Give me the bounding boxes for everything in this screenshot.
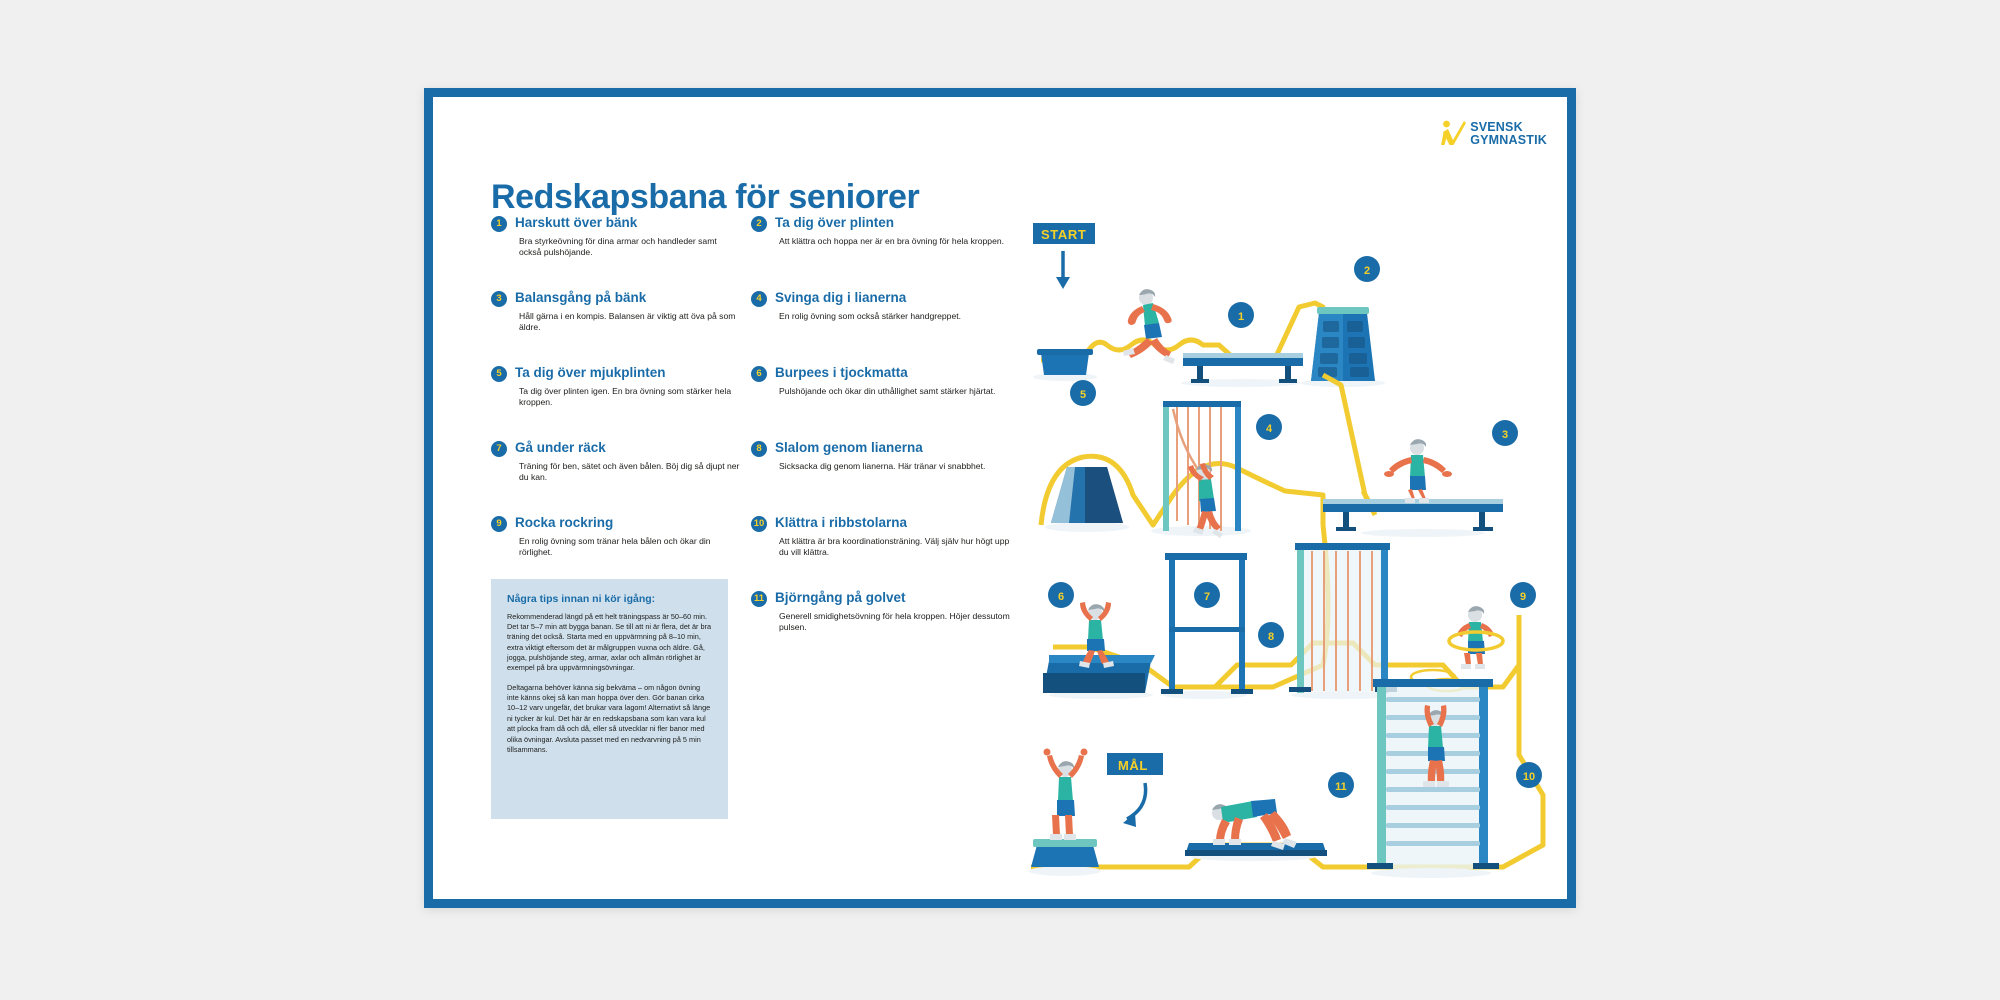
logo-wordmark: SVENSK GYMNASTIK xyxy=(1470,121,1547,148)
exercise-title: Ta dig över plinten xyxy=(775,215,1011,231)
exercise-description: Sicksacka dig genom lianerna. Här tränar… xyxy=(779,461,1011,473)
equipment-rope-slalom xyxy=(1289,543,1397,693)
svg-text:5: 5 xyxy=(1080,389,1086,401)
marker-1: 1 xyxy=(1228,302,1254,328)
svg-text:1: 1 xyxy=(1238,311,1244,323)
exercise-title: Svinga dig i lianerna xyxy=(775,290,1011,306)
svensk-gymnastik-logo: SVENSK GYMNASTIK xyxy=(1440,119,1547,149)
svg-text:11: 11 xyxy=(1335,781,1347,793)
equipment-bench xyxy=(1183,353,1303,383)
exercise-number-badge: 10 xyxy=(751,516,767,532)
tips-paragraph-1: Rekommenderad längd på ett helt tränings… xyxy=(507,612,712,674)
exercise-title: Slalom genom lianerna xyxy=(775,440,1011,456)
exercise-number-badge: 2 xyxy=(751,216,767,232)
exercise-number-badge: 1 xyxy=(491,216,507,232)
figure-hula-hoop xyxy=(1449,606,1503,669)
start-box-top xyxy=(1037,349,1093,355)
exercise-description: Att klättra och hoppa ner är en bra övni… xyxy=(779,236,1011,248)
exercise-item-3: 3 Balansgång på bänk Håll gärna i en kom… xyxy=(491,290,741,365)
shadow xyxy=(1371,868,1491,878)
exercise-item-1: 1 Harskutt över bänk Bra styrkeövning fö… xyxy=(491,215,741,290)
arrow-curve-down-left-icon xyxy=(1123,783,1146,827)
marker-2: 2 xyxy=(1354,256,1380,282)
exercise-title: Rocka rockring xyxy=(515,515,741,531)
exercise-title: Gå under räck xyxy=(515,440,741,456)
exercise-item-11: 11 Björngång på golvet Generell smidighe… xyxy=(751,590,1011,665)
tips-box: Några tips innan ni kör igång: Rekommend… xyxy=(491,579,728,819)
exercise-title: Harskutt över bänk xyxy=(515,215,741,231)
exercise-item-2: 2 Ta dig över plinten Att klättra och ho… xyxy=(751,215,1011,290)
exercise-item-8: 8 Slalom genom lianerna Sicksacka dig ge… xyxy=(751,440,1011,515)
marker-7: 7 xyxy=(1194,582,1220,608)
equipment-balance-bench xyxy=(1323,499,1503,531)
svg-text:10: 10 xyxy=(1523,771,1535,783)
exercise-description: En rolig övning som tränar hela bålen oc… xyxy=(519,536,741,560)
goal-label: MÅL xyxy=(1107,753,1163,775)
exercise-title: Burpees i tjockmatta xyxy=(775,365,1011,381)
equipment-floor-mat xyxy=(1185,843,1327,856)
shadow xyxy=(1361,529,1485,537)
marker-10: 10 xyxy=(1516,762,1542,788)
exercise-number-badge: 7 xyxy=(491,441,507,457)
poster-card: SVENSK GYMNASTIK Redskapsbana för senior… xyxy=(424,88,1576,908)
svg-text:4: 4 xyxy=(1266,423,1273,435)
equipment-bar-rack xyxy=(1161,553,1253,694)
marker-9: 9 xyxy=(1510,582,1536,608)
exercise-title: Klättra i ribbstolarna xyxy=(775,515,1011,531)
exercise-item-5: 5 Ta dig över mjukplinten Ta dig över pl… xyxy=(491,365,741,440)
equipment-plinth xyxy=(1311,307,1375,381)
gymnast-figure-icon xyxy=(1440,119,1466,149)
poster-content: SVENSK GYMNASTIK Redskapsbana för senior… xyxy=(433,97,1567,899)
marker-11: 11 xyxy=(1328,772,1354,798)
marker-8: 8 xyxy=(1258,622,1284,648)
page-title: Redskapsbana för seniorer xyxy=(491,178,919,217)
exercise-description: Träning för ben, sätet och även bålen. B… xyxy=(519,461,741,485)
tips-paragraph-2: Deltagarna behöver känna sig bekväma – o… xyxy=(507,683,712,756)
svg-text:7: 7 xyxy=(1204,591,1210,603)
shadow xyxy=(1045,522,1129,532)
exercise-title: Björngång på golvet xyxy=(775,590,1011,606)
svg-text:6: 6 xyxy=(1058,591,1064,603)
marker-4: 4 xyxy=(1256,414,1282,440)
figure-bear-walk xyxy=(1212,799,1297,850)
exercise-number-badge: 11 xyxy=(751,591,767,607)
exercise-description: Pulshöjande och ökar din uthållighet sam… xyxy=(779,386,1011,398)
goal-podium xyxy=(1031,839,1099,867)
exercise-number-badge: 8 xyxy=(751,441,767,457)
goal-label-text: MÅL xyxy=(1118,758,1148,773)
figure-balance xyxy=(1384,439,1452,503)
exercise-title: Balansgång på bänk xyxy=(515,290,741,306)
page-background: SVENSK GYMNASTIK Redskapsbana för senior… xyxy=(0,0,2000,1000)
exercise-title: Ta dig över mjukplinten xyxy=(515,365,741,381)
exercise-number-badge: 4 xyxy=(751,291,767,307)
svg-text:9: 9 xyxy=(1520,591,1526,603)
logo-line-1: SVENSK xyxy=(1470,121,1547,135)
course-illustration: START xyxy=(1023,195,1563,885)
tips-heading: Några tips innan ni kör igång: xyxy=(507,593,712,606)
start-label: START xyxy=(1033,223,1095,244)
svg-text:2: 2 xyxy=(1364,265,1370,277)
exercise-number-badge: 9 xyxy=(491,516,507,532)
exercise-item-6: 6 Burpees i tjockmatta Pulshöjande och ö… xyxy=(751,365,1011,440)
exercise-number-badge: 6 xyxy=(751,366,767,382)
marker-6: 6 xyxy=(1048,582,1074,608)
exercise-item-10: 10 Klättra i ribbstolarna Att klättra är… xyxy=(751,515,1011,590)
figure-celebrating xyxy=(1044,749,1088,841)
arrow-down-icon xyxy=(1056,251,1070,289)
exercise-number-badge: 5 xyxy=(491,366,507,382)
equipment-thick-mat xyxy=(1043,655,1155,693)
figure-runner xyxy=(1123,289,1175,364)
exercise-description: Att klättra är bra koordinationsträning.… xyxy=(779,536,1011,560)
exercise-description: Håll gärna i en kompis. Balansen är vikt… xyxy=(519,311,741,335)
shadow xyxy=(1029,866,1101,876)
exercise-description: Bra styrkeövning för dina armar och hand… xyxy=(519,236,741,260)
marker-5: 5 xyxy=(1070,380,1096,406)
exercise-description: En rolig övning som också stärker handgr… xyxy=(779,311,1011,323)
exercise-item-4: 4 Svinga dig i lianerna En rolig övning … xyxy=(751,290,1011,365)
start-label-text: START xyxy=(1041,227,1086,242)
exercise-number-badge: 3 xyxy=(491,291,507,307)
svg-text:8: 8 xyxy=(1268,631,1274,643)
start-box xyxy=(1041,353,1089,375)
exercise-item-7: 7 Gå under räck Träning för ben, sätet o… xyxy=(491,440,741,515)
marker-3: 3 xyxy=(1492,420,1518,446)
svg-text:3: 3 xyxy=(1502,429,1508,441)
logo-line-2: GYMNASTIK xyxy=(1470,134,1547,148)
course-diagram: START xyxy=(1023,195,1563,885)
equipment-soft-plinth xyxy=(1051,467,1123,523)
exercise-description: Generell smidighetsövning för hela kropp… xyxy=(779,611,1011,635)
exercise-description: Ta dig över plinten igen. En bra övning … xyxy=(519,386,741,410)
